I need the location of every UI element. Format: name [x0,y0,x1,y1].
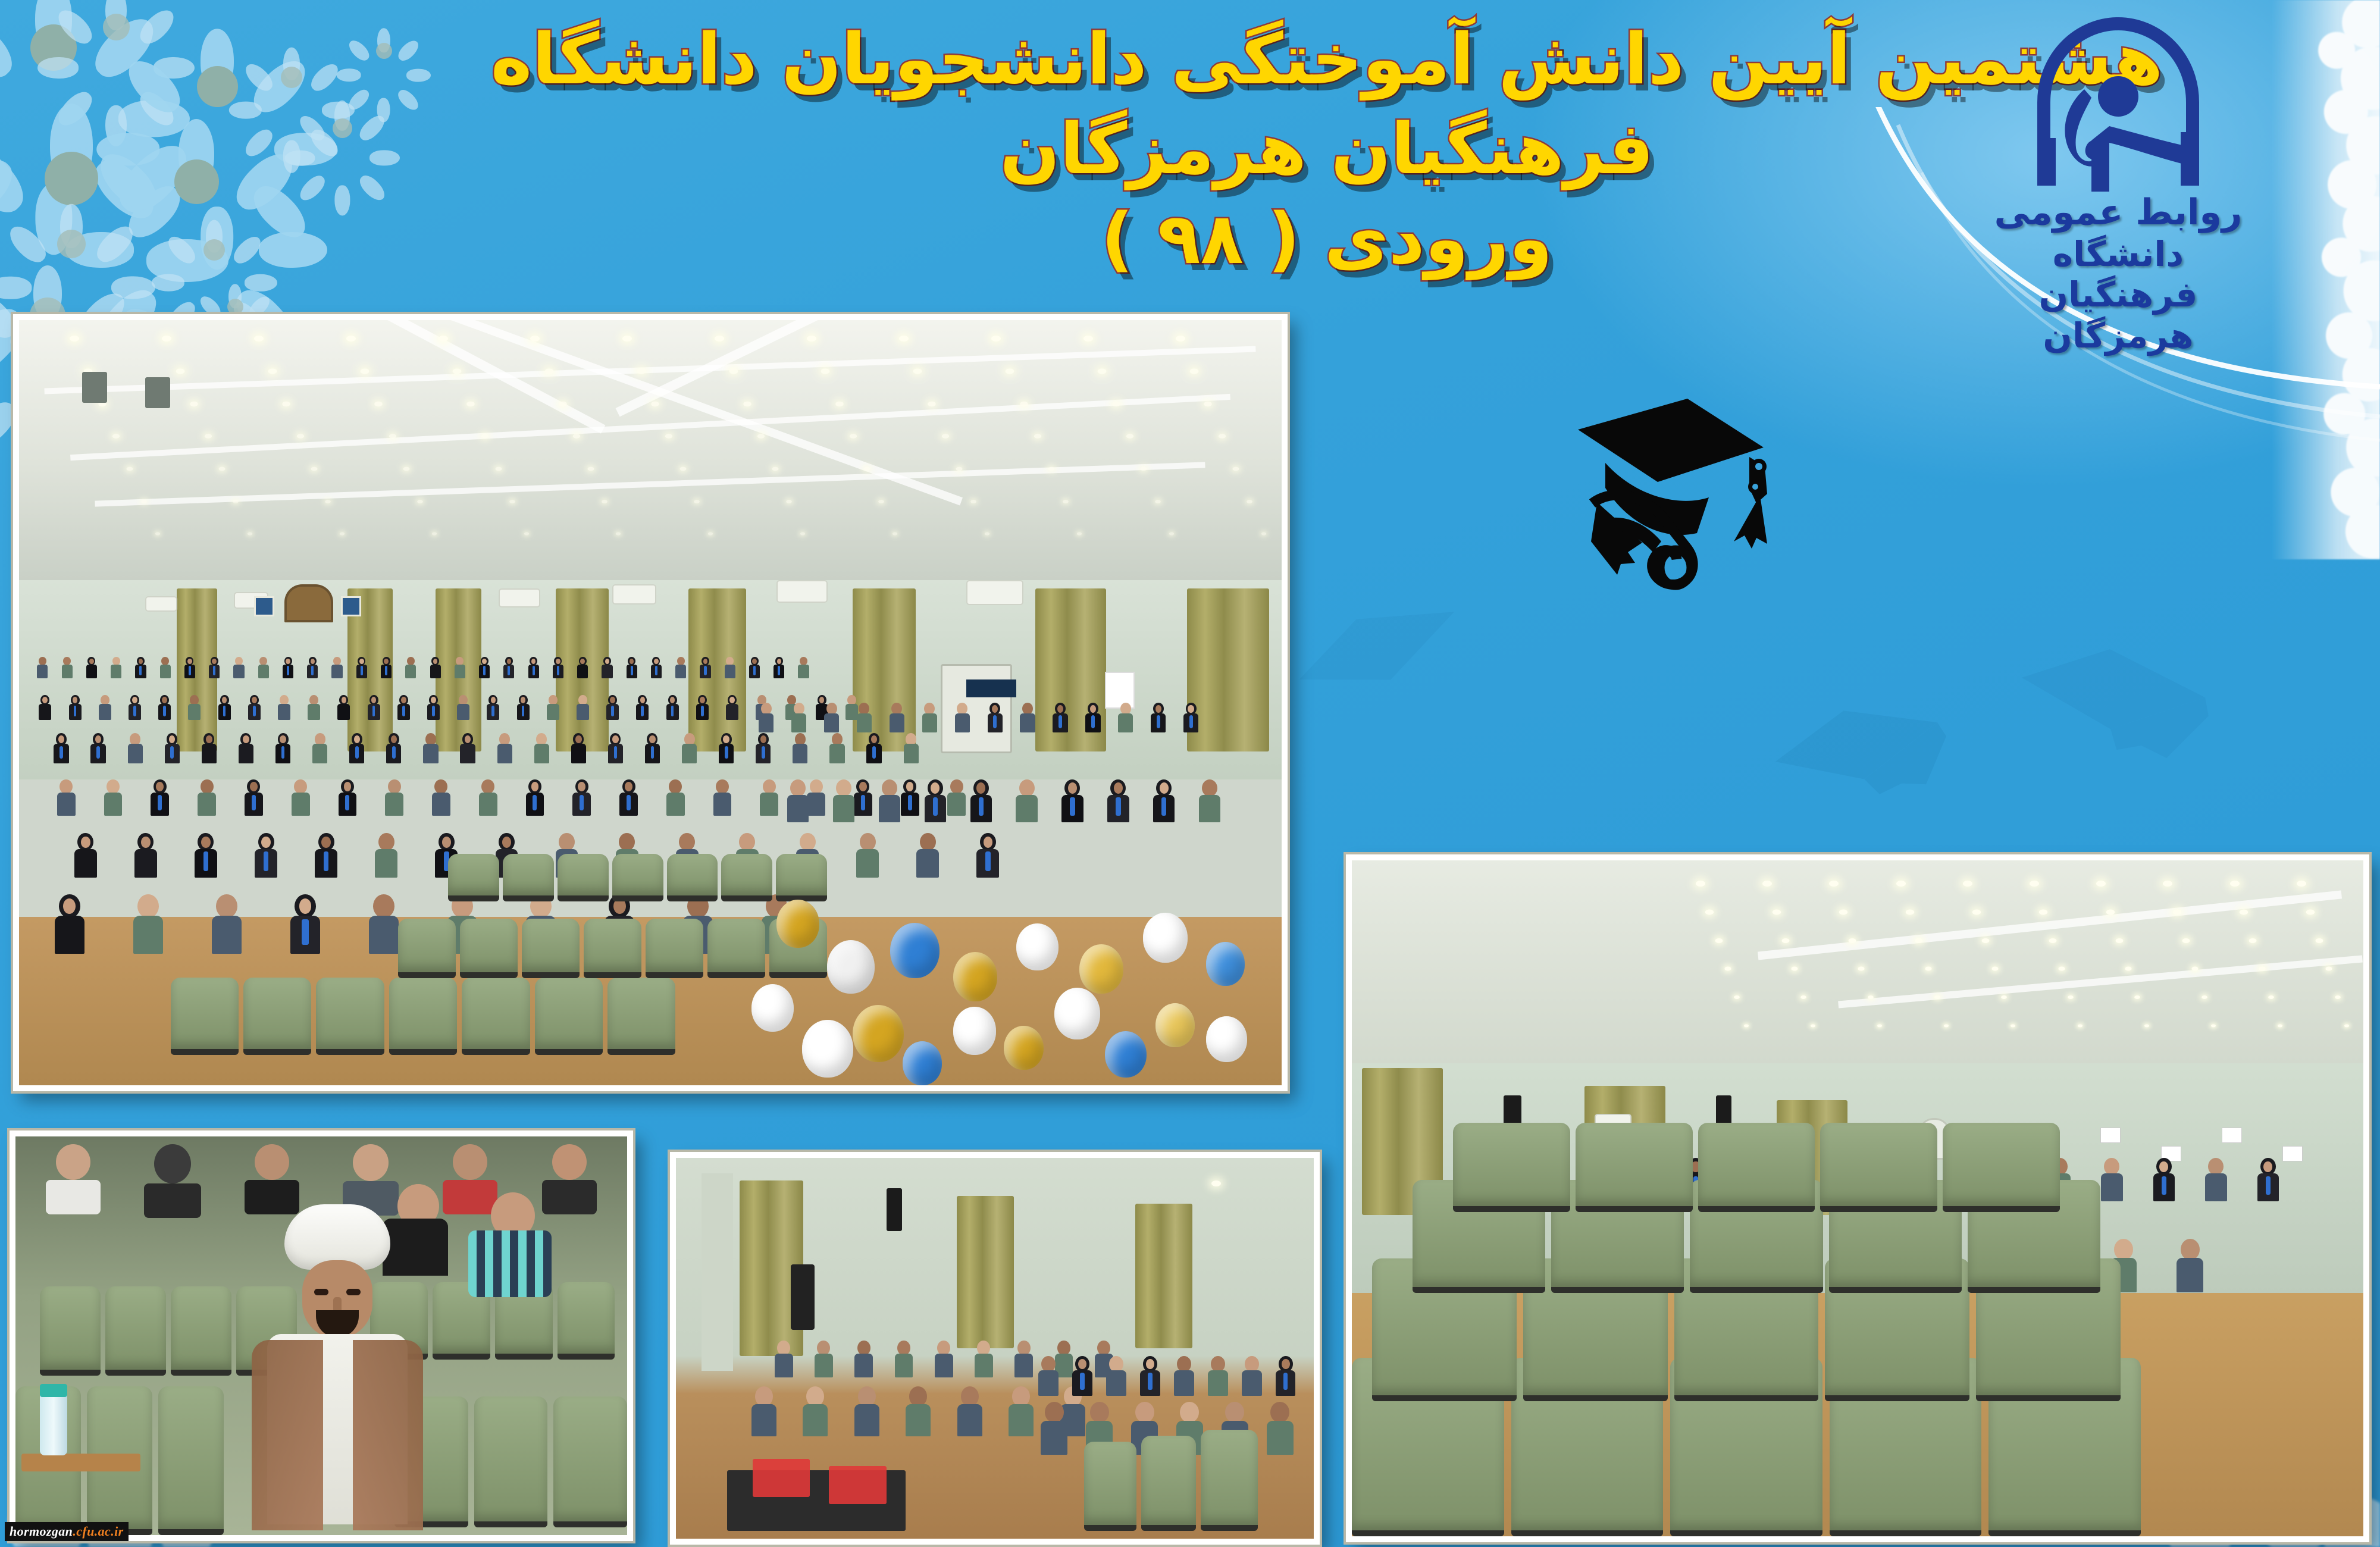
balloon [802,1020,853,1078]
ceiling-light [1839,909,1847,915]
audience-person [925,1341,962,1377]
auditorium-seat [398,919,456,978]
graduation-cap-with-diploma-icon [1571,393,1821,619]
wall-sign [2222,1128,2242,1143]
audience-person [599,695,626,720]
ceiling-light [1204,401,1212,406]
auditorium-seat [40,1286,101,1376]
ceiling-light [219,466,226,471]
ceiling-light [1155,500,1161,503]
audience-person [1144,703,1173,732]
ceiling-light [155,533,160,535]
audience-person [330,695,357,720]
audience-person [572,657,593,678]
ceiling-light [616,533,621,535]
audience-person [360,695,387,720]
auditorium-seat [1943,1123,2060,1212]
photo-main-audience [13,314,1288,1091]
balloon [1004,1026,1043,1070]
ghost-cap-2-icon [2002,630,2217,804]
ceiling-light [205,434,212,439]
audience-person [32,894,107,954]
balloon [1155,1003,1195,1047]
ceiling-light [970,500,976,503]
audience-person [237,833,295,878]
auditorium-seat [776,854,827,901]
ceiling-light [715,336,724,342]
auditorium-seat [553,1396,627,1527]
daisy-flower-icon [178,214,250,286]
audience-person [569,695,596,720]
audience-person [882,703,912,732]
ceiling-light [651,401,659,406]
ceiling-light [807,336,816,342]
daisy-flower-icon [71,0,161,71]
audience-person [746,733,780,763]
audience-person [155,733,189,763]
auditorium-seat [721,854,772,901]
ceiling-light [1858,967,1865,971]
audience-person [914,779,957,823]
audience-person [1188,779,1231,823]
audience-person [32,657,53,678]
ceiling-light [892,533,897,535]
balloon [751,984,794,1032]
audience-person [1111,703,1141,732]
daisy-flower-icon [357,24,411,77]
balloon [1206,1016,1247,1062]
audience-person [839,833,896,878]
ceiling-light [2316,938,2323,943]
ceiling-light [1829,881,1839,887]
ceiling-light [1762,881,1772,887]
audience-person [326,657,347,678]
audience-person [791,1386,840,1436]
ceiling-light [1247,500,1253,503]
audience-person [1097,779,1139,823]
balloon [1105,1031,1147,1078]
headline-line-1: هشتمین آیین دانش آموختگی دانشجویان دانشگ… [491,18,2163,190]
auditorium-seat [646,919,703,978]
ceiling-light [1944,1024,1949,1027]
ceiling-light [2125,967,2131,971]
audience-person [621,657,643,678]
audience-person [562,733,596,763]
audience-person [744,657,765,678]
ceiling-light [665,434,672,439]
audience-person [375,657,397,678]
auditorium-seat [607,978,675,1055]
auditorium-seat [105,1286,166,1376]
ceiling-light [2306,909,2315,915]
audience-person [2140,1158,2188,1201]
ceiling-light [1925,967,1931,971]
ceiling-light [1982,938,1990,943]
ceiling-light [268,368,277,374]
ceiling-light [899,336,909,342]
ceiling-light [757,434,765,439]
ceiling-light [1896,881,1906,887]
audience-person [1045,703,1075,732]
ceiling-light [311,466,318,471]
audience-person [1006,779,1048,823]
ceiling-light [559,401,566,406]
audience-person [44,779,88,816]
site-watermark: hormozgan.cfu.ac.ir [5,1522,129,1541]
audience-person [498,657,519,678]
ceiling-light [821,368,830,374]
ceiling-light [481,434,488,439]
ceiling-light [878,500,884,503]
audience-person [253,657,274,678]
auditorium-seat [171,1286,231,1376]
audience-person [700,779,744,816]
ceiling-light [1772,909,1780,915]
ceiling-light [439,336,448,342]
ceiling-light [1006,368,1014,374]
ceiling-light [1734,995,1740,999]
logo-line-university: دانشگاه فرهنگیان هرمزگان [1978,234,2258,356]
balloon [890,923,940,978]
ceiling-light [850,434,857,439]
audience-person [130,657,151,678]
ceiling-light [1972,909,1981,915]
ceiling-light [800,533,805,535]
ceiling-light [2068,995,2074,999]
photo-group [1346,854,2369,1542]
audience-person [56,657,77,678]
audience-person [525,733,559,763]
audience-person [965,1341,1002,1377]
ceiling-light [1906,909,1914,915]
auditorium-seat [1576,1123,1693,1212]
ceiling-light [2058,967,2065,971]
ceiling-light [2106,909,2114,915]
ceiling-light [1849,938,1856,943]
ceiling-light [1791,967,1797,971]
ceiling-light [1190,368,1199,374]
audience-person [302,657,323,678]
audience-person [793,657,814,678]
audience-person [1013,703,1042,732]
audience-person [449,657,471,678]
audience-person [845,1341,882,1377]
ceiling-light [1868,995,1874,999]
photo-officials [670,1152,1320,1545]
ceiling-light [2135,995,2141,999]
ceiling-light [694,500,700,503]
farhangian-university-emblem-icon [2020,13,2216,192]
ceiling-light [587,466,594,471]
auditorium-seat [462,978,530,1055]
audience-person [32,695,58,720]
poster-canvas: هشتمین آیین دانش آموختگی دانشجویان دانشگ… [0,0,2380,1547]
auditorium-seat [522,919,580,978]
balloon [853,1005,904,1063]
auditorium-seat [389,978,457,1055]
ceiling-light [466,401,474,406]
auditorium-seat [584,919,641,978]
ceiling-light [1991,967,1998,971]
audience-person [267,894,343,954]
ceiling-light [283,401,290,406]
audience-person [885,1341,922,1377]
audience-person [57,833,114,878]
auditorium-seat [316,978,384,1055]
ceiling-light [2039,909,2047,915]
ceiling-light [2096,881,2106,887]
audience-person [474,657,495,678]
watermark-suffix: .cfu.ac.ir [73,1524,123,1539]
balloon [903,1041,942,1085]
headline-line-2: ورودی ( ۹۸ ) [470,194,2184,284]
audience-person [960,779,1003,823]
ceiling-light [2001,995,2007,999]
ceiling-light [346,336,356,342]
audience-person [784,703,814,732]
audience-person [599,733,632,763]
audience-person [81,657,102,678]
audience-person [817,703,847,732]
ceiling-light [928,401,935,406]
auditorium-seat [1698,1123,1815,1212]
auditorium-seat [558,1282,615,1360]
audience-person [179,657,201,678]
audience-person [2191,1158,2240,1201]
ceiling-light [1261,533,1266,535]
audience-person [271,695,297,720]
audience-person [466,779,510,816]
audience-person [513,779,557,816]
auditorium-seat [503,854,554,901]
auditorium-seat [707,919,765,978]
audience-person [894,1386,942,1436]
audience-person [635,733,669,763]
ceiling-light [1781,938,1789,943]
audience-person [947,703,977,732]
university-logo-block: روابط عمومی دانشگاه فرهنگیان هرمزگان [1978,13,2258,356]
auditorium-seat [448,854,499,901]
audience-person [480,695,506,720]
ceiling-light [2344,1024,2349,1027]
audience-person [765,1341,802,1377]
page-title: هشتمین آیین دانش آموختگی دانشجویان دانشگ… [470,14,2184,284]
audience-person [509,695,536,720]
audience-person [110,894,186,954]
balloon [827,940,875,994]
audience-person [868,779,911,823]
audience-person [959,833,1016,878]
ceiling-light [1801,995,1807,999]
balloon [953,952,997,1001]
audience-person [899,833,956,878]
ceiling-light [2335,995,2341,999]
ceiling-light [1126,434,1133,439]
ceiling-light [2268,995,2274,999]
ceiling-light [297,434,304,439]
ceiling-light [495,466,502,471]
auditorium-seat [460,919,518,978]
ceiling-light [452,368,461,374]
ceiling-light [1169,533,1174,535]
ceiling-light [602,500,607,503]
audience-person [1051,779,1094,823]
ceiling-light [112,434,120,439]
ceiling-light [176,368,185,374]
ceiling-light [254,336,264,342]
audience-person [646,657,667,678]
auditorium-seat [474,1396,548,1527]
audience-person [1176,703,1206,732]
audience-person [822,779,865,823]
ceiling-light [1098,368,1107,374]
audience-person [177,833,234,878]
photo-cleric [10,1130,633,1541]
ceiling-light [1048,466,1055,471]
ceiling-light [2259,967,2265,971]
ceiling-light [248,533,252,535]
audience-person [189,894,264,954]
ceiling-light [1219,434,1226,439]
ceiling-light [389,434,396,439]
ceiling-light [524,533,528,535]
ceiling-light [1811,1024,1815,1027]
ceiling-light [942,434,949,439]
ceiling-light [1077,533,1082,535]
audience-person [377,733,411,763]
auditorium-seat [535,978,603,1055]
ceiling-light [1934,995,1940,999]
audience-person [709,733,743,763]
ceiling-light [1696,881,1705,887]
audience-person [82,733,115,763]
ceiling-light [2249,938,2257,943]
audience-person [277,657,299,678]
ceiling-light [70,336,79,342]
ceiling-light [1176,336,1185,342]
ceiling-light [573,434,580,439]
audience-person [450,733,484,763]
ceiling-light [2211,1024,2216,1027]
ceiling-light [417,500,423,503]
audience-person [980,703,1010,732]
audience-person [390,695,417,720]
ceiling-light [1063,500,1069,503]
audience-person [300,695,327,720]
audience-person [523,657,544,678]
audience-person [2244,1158,2293,1201]
ceiling-light [1141,466,1147,471]
ceiling-light [772,466,778,471]
ceiling-light [2230,881,2240,887]
ceiling-light [2078,1024,2082,1027]
ceiling-light [786,500,792,503]
audience-person [560,779,604,816]
audience-person [44,733,78,763]
ceiling-light [1877,1024,1882,1027]
audience-person [719,657,741,678]
daisy-flower-icon [309,95,375,161]
ceiling-light [544,368,553,374]
ceiling-light [2144,1024,2149,1027]
audience-person [232,779,276,816]
ceiling-light [509,500,515,503]
ceiling-light [2172,909,2181,915]
ceiling-light [2115,938,2123,943]
audience-person [303,733,337,763]
ceiling-light [1034,434,1041,439]
audience-person [783,733,817,763]
audience-person [653,779,697,816]
audience-person [419,779,464,816]
balloon [776,900,819,948]
audience-person [340,733,374,763]
audience-person [768,657,790,678]
balloon [1079,944,1123,994]
ceiling-light [2201,995,2207,999]
audience-person [629,695,656,720]
audience-person [850,703,879,732]
auditorium-seat [612,854,663,901]
audience-person [414,733,447,763]
audience-person [203,657,225,678]
audience-person [776,779,819,823]
ceiling-light [127,466,133,471]
audience-person [105,657,127,678]
audience-person [857,733,891,763]
audience-person [138,779,182,816]
ceiling-light [708,533,713,535]
audience-person [358,833,415,878]
audience-person [92,695,118,720]
ceiling-light [233,500,239,503]
ceiling-light [991,336,1001,342]
audience-person [689,695,716,720]
audience-person [229,733,263,763]
audience-person [843,1386,891,1436]
audience-person [670,657,691,678]
audience-person [118,733,152,763]
ceiling-light [325,500,331,503]
balloon [1206,942,1245,985]
audience-person [61,695,88,720]
balloon [1054,988,1100,1039]
audience-person [351,657,372,678]
ceiling-light [729,368,738,374]
ceiling-light [622,336,632,342]
audience-person [228,657,249,678]
audience-person [151,695,178,720]
ceiling-light [2325,967,2332,971]
ceiling-light [2297,881,2306,887]
logo-line-public-relations: روابط عمومی [1978,192,2258,234]
ceiling-light [431,533,436,535]
ceiling-light [2030,881,2039,887]
ceiling-light [743,401,751,406]
ceiling-light [530,336,540,342]
audience-person [192,733,226,763]
audience-person [607,779,651,816]
audience-person [805,1341,842,1377]
ceiling-light [2278,1024,2282,1027]
audience-person [117,833,174,878]
audience-person [121,695,148,720]
audience-person [400,657,421,678]
audience-person [181,695,208,720]
audience-person [372,779,416,816]
audience-person [945,1386,994,1436]
audience-person [91,779,135,816]
